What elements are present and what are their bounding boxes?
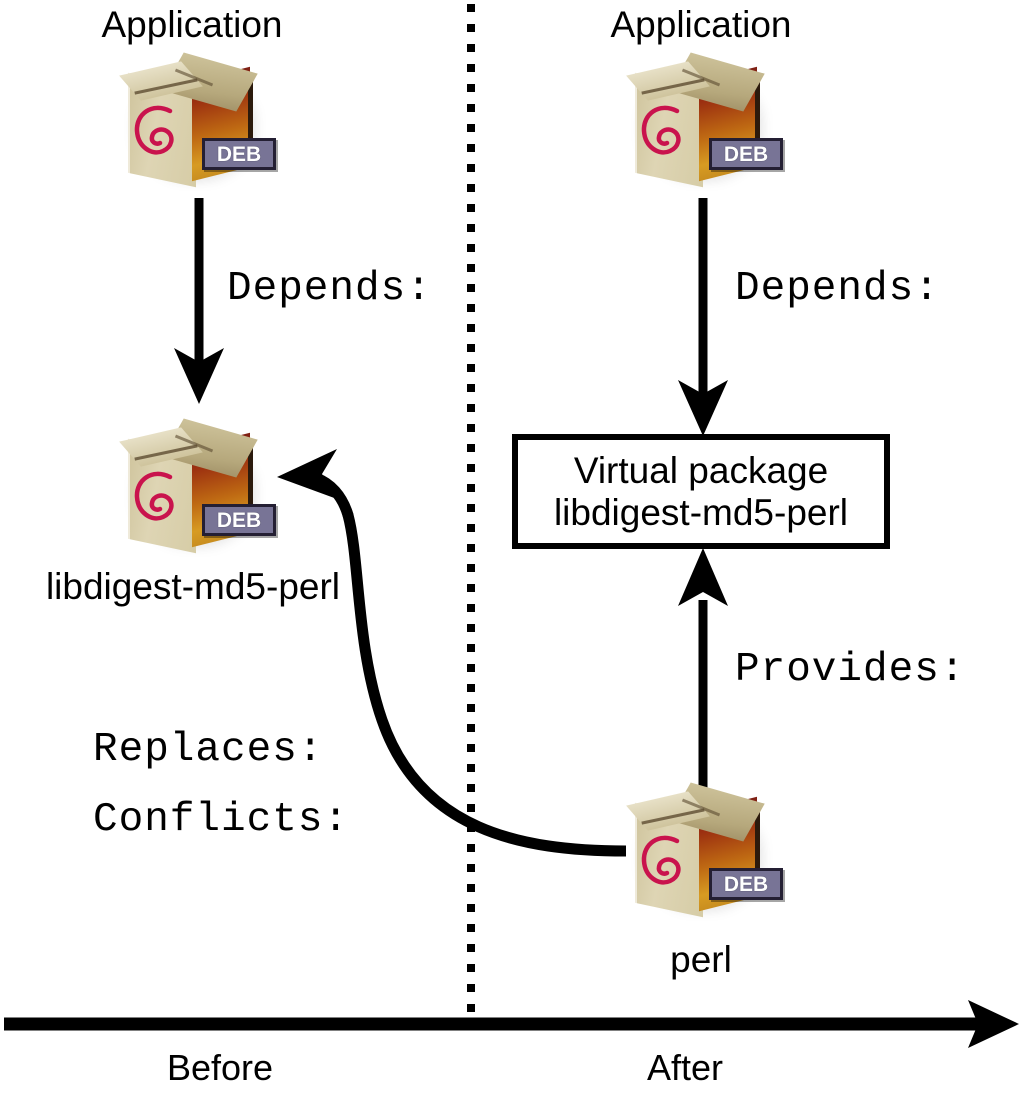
axis-label-after: After: [647, 1050, 723, 1086]
package-icon-app-after[interactable]: DEB: [625, 52, 785, 197]
arrow-depends-after: [678, 198, 728, 436]
heading-application-before: Application: [101, 6, 282, 43]
debian-swirl-icon: [130, 464, 188, 530]
deb-badge: DEB: [202, 138, 276, 170]
package-icon-app-before[interactable]: DEB: [118, 52, 278, 197]
diagram-canvas: Application Application DEB DEB: [0, 0, 1024, 1094]
package-caption-perl: perl: [670, 941, 732, 978]
relation-label-depends-before: Depends:: [227, 269, 432, 310]
package-icon-perl[interactable]: DEB: [625, 782, 785, 927]
deb-badge-label: DEB: [217, 510, 261, 531]
timeline-axis-arrow: [4, 1000, 1019, 1048]
axis-label-before: Before: [167, 1050, 273, 1086]
deb-badge: DEB: [709, 868, 783, 900]
deb-badge: DEB: [709, 138, 783, 170]
debian-swirl-icon: [637, 828, 695, 894]
relation-label-replaces: Replaces:: [93, 730, 323, 771]
package-icon-libdigest[interactable]: DEB: [118, 418, 278, 563]
deb-badge-label: DEB: [724, 874, 768, 895]
package-caption-libdigest: libdigest-md5-perl: [46, 568, 340, 605]
arrow-provides: [678, 548, 728, 800]
debian-swirl-icon: [637, 98, 695, 164]
heading-application-after: Application: [610, 6, 791, 43]
virtual-package-box[interactable]: Virtual package libdigest-md5-perl: [512, 434, 890, 549]
deb-badge-label: DEB: [724, 144, 768, 165]
relation-label-depends-after: Depends:: [735, 269, 940, 310]
debian-swirl-icon: [130, 98, 188, 164]
deb-badge-label: DEB: [217, 144, 261, 165]
relation-label-provides: Provides:: [735, 650, 965, 691]
virtual-package-line1: Virtual package: [574, 450, 828, 491]
relation-label-conflicts: Conflicts:: [93, 800, 349, 841]
arrow-depends-before: [174, 198, 224, 404]
virtual-package-line2: libdigest-md5-perl: [554, 492, 848, 533]
deb-badge: DEB: [202, 504, 276, 536]
